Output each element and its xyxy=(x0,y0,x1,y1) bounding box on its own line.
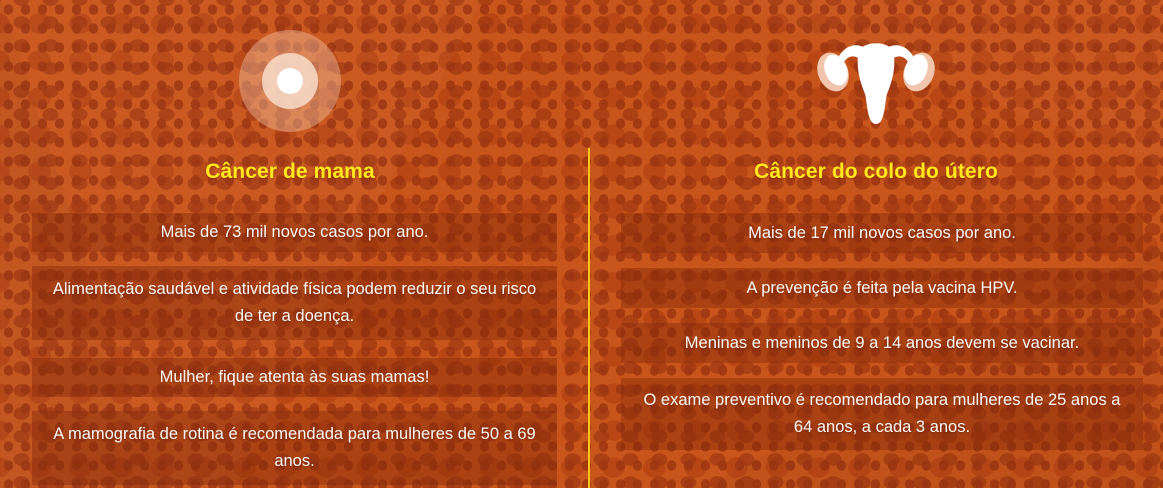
uterus-icon-container xyxy=(589,0,1163,148)
cervical-fact-1: Mais de 17 mil novos casos por ano. xyxy=(621,213,1143,253)
cervical-fact-4: O exame preventivo é recomendado para mu… xyxy=(621,378,1143,450)
cervical-cancer-title: Câncer do colo do útero xyxy=(589,160,1163,184)
column-breast-cancer: Câncer de mama Mais de 73 mil novos caso… xyxy=(0,0,580,488)
breast-icon-nipple xyxy=(277,68,303,94)
breast-fact-1: Mais de 73 mil novos casos por ano. xyxy=(32,213,557,252)
column-cervical-cancer: Câncer do colo do útero Mais de 17 mil n… xyxy=(589,0,1163,488)
breast-icon-container xyxy=(0,0,580,148)
column-divider xyxy=(588,148,590,488)
cervical-fact-3: Meninas e meninos de 9 a 14 anos devem s… xyxy=(621,323,1143,363)
breast-fact-3: Mulher, fique atenta às suas mamas! xyxy=(32,358,557,397)
breast-icon xyxy=(239,30,341,132)
breast-fact-4: A mamografia de rotina é recomendada par… xyxy=(32,411,557,485)
breast-fact-2: Alimentação saudável e atividade física … xyxy=(32,266,557,340)
breast-cancer-title: Câncer de mama xyxy=(0,160,580,184)
infographic-page: Câncer de mama Mais de 73 mil novos caso… xyxy=(0,0,1163,488)
breast-icon-areola xyxy=(262,53,318,109)
cervical-fact-2: A prevenção é feita pela vacina HPV. xyxy=(621,268,1143,308)
uterus-icon xyxy=(811,28,941,126)
